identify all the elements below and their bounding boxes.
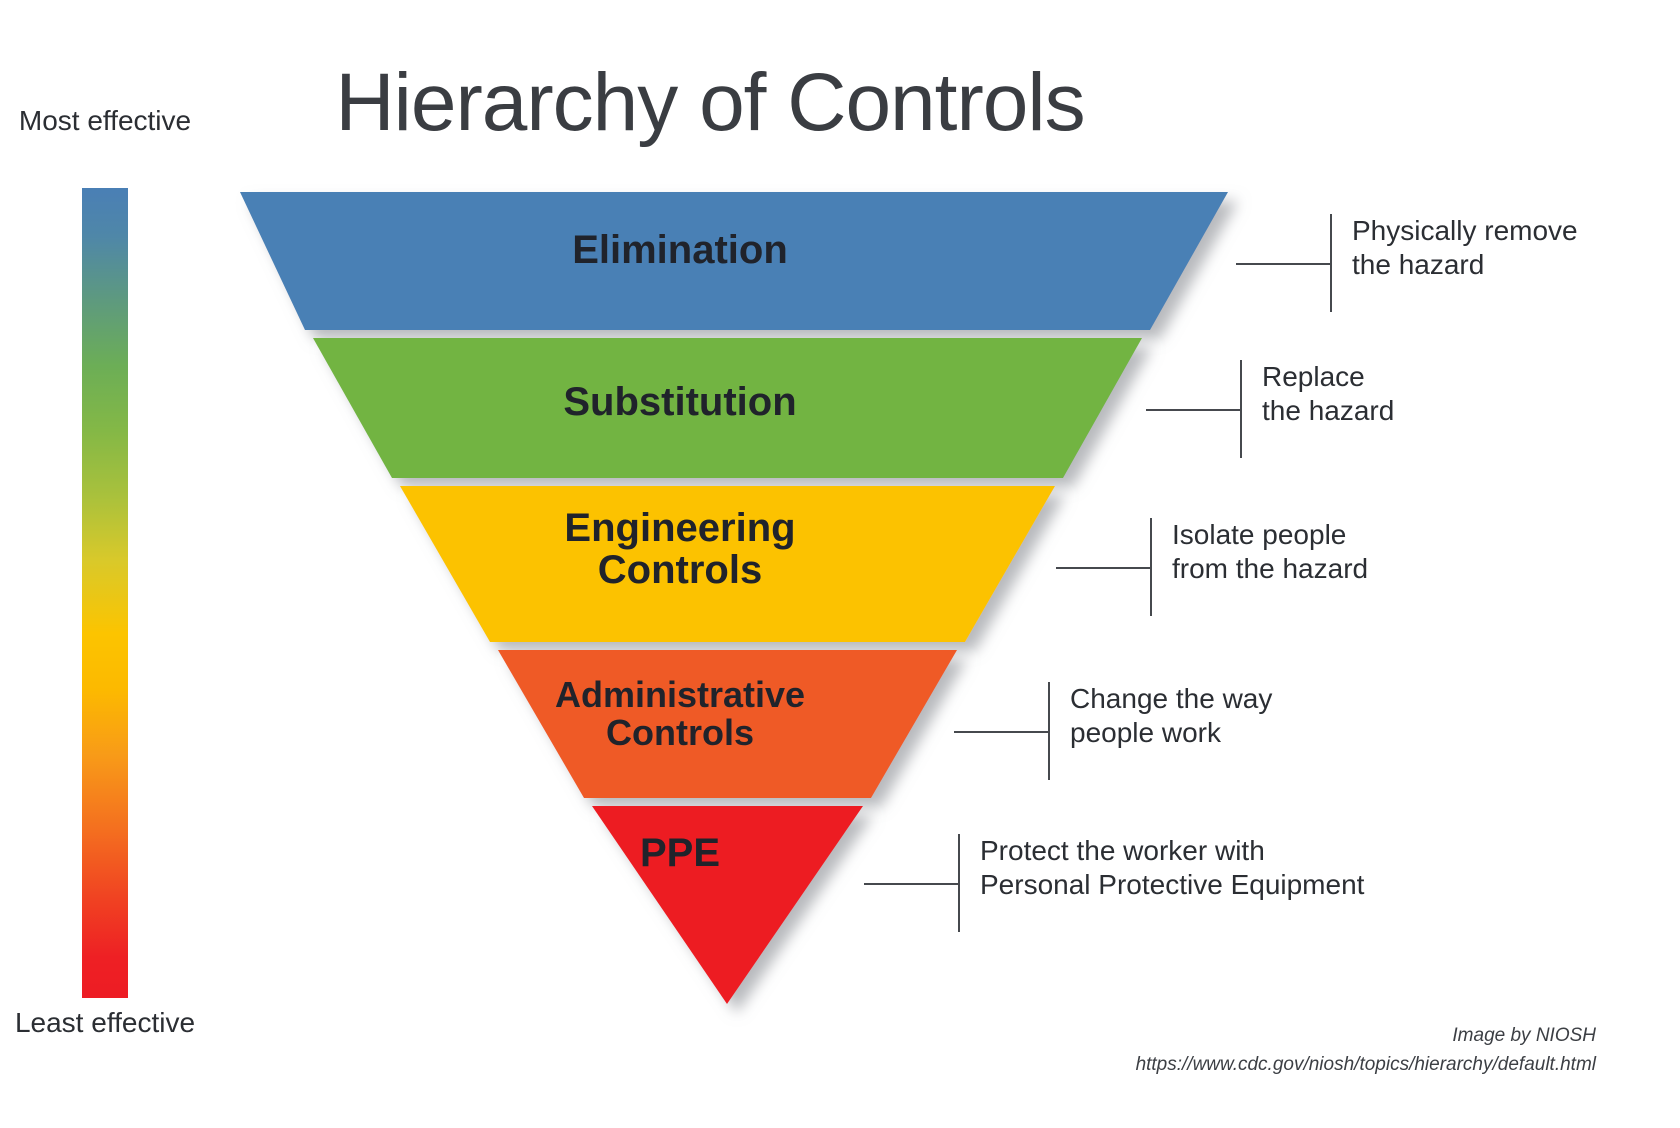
attribution: Image by NIOSH https://www.cdc.gov/niosh… — [1136, 1022, 1596, 1079]
callout-bracket-engineering — [1150, 518, 1152, 616]
scale-label-most-effective: Most effective — [5, 104, 205, 137]
attribution-credit: Image by NIOSH — [1136, 1022, 1596, 1051]
band-label-elimination: Elimination — [430, 229, 930, 271]
callout-administrative: Change the way people work — [954, 686, 1374, 776]
callout-bracket-ppe — [958, 834, 960, 932]
band-label-substitution: Substitution — [430, 381, 930, 423]
band-label-administrative-controls: Administrative Controls — [430, 676, 930, 752]
callout-ppe: Protect the worker with Personal Protect… — [864, 838, 1424, 928]
band-label-ppe: PPE — [500, 832, 860, 874]
infographic-canvas: Hierarchy of Controls Most effective Lea… — [0, 0, 1680, 1128]
callout-text-engineering: Isolate people from the hazard — [1172, 518, 1368, 585]
callout-text-elimination: Physically remove the hazard — [1352, 214, 1578, 281]
callout-text-ppe: Protect the worker with Personal Protect… — [980, 834, 1364, 901]
callout-elimination: Physically remove the hazard — [1236, 218, 1656, 308]
attribution-url[interactable]: https://www.cdc.gov/niosh/topics/hierarc… — [1136, 1051, 1596, 1080]
callout-bracket-administrative — [1048, 682, 1050, 780]
callout-engineering: Isolate people from the hazard — [1056, 522, 1476, 612]
callout-substitution: Replace the hazard — [1146, 364, 1566, 454]
callout-leader-line-substitution — [1146, 409, 1240, 411]
effectiveness-gradient-bar — [82, 188, 128, 998]
callout-text-administrative: Change the way people work — [1070, 682, 1272, 749]
callout-text-substitution: Replace the hazard — [1262, 360, 1394, 427]
callout-leader-line-engineering — [1056, 567, 1150, 569]
callout-leader-line-elimination — [1236, 263, 1330, 265]
callout-leader-line-administrative — [954, 731, 1048, 733]
callout-bracket-substitution — [1240, 360, 1242, 458]
callout-leader-line-ppe — [864, 883, 958, 885]
band-label-engineering-controls: Engineering Controls — [430, 507, 930, 592]
scale-label-least-effective: Least effective — [5, 1006, 205, 1039]
page-title: Hierarchy of Controls — [270, 62, 1150, 144]
callout-bracket-elimination — [1330, 214, 1332, 312]
